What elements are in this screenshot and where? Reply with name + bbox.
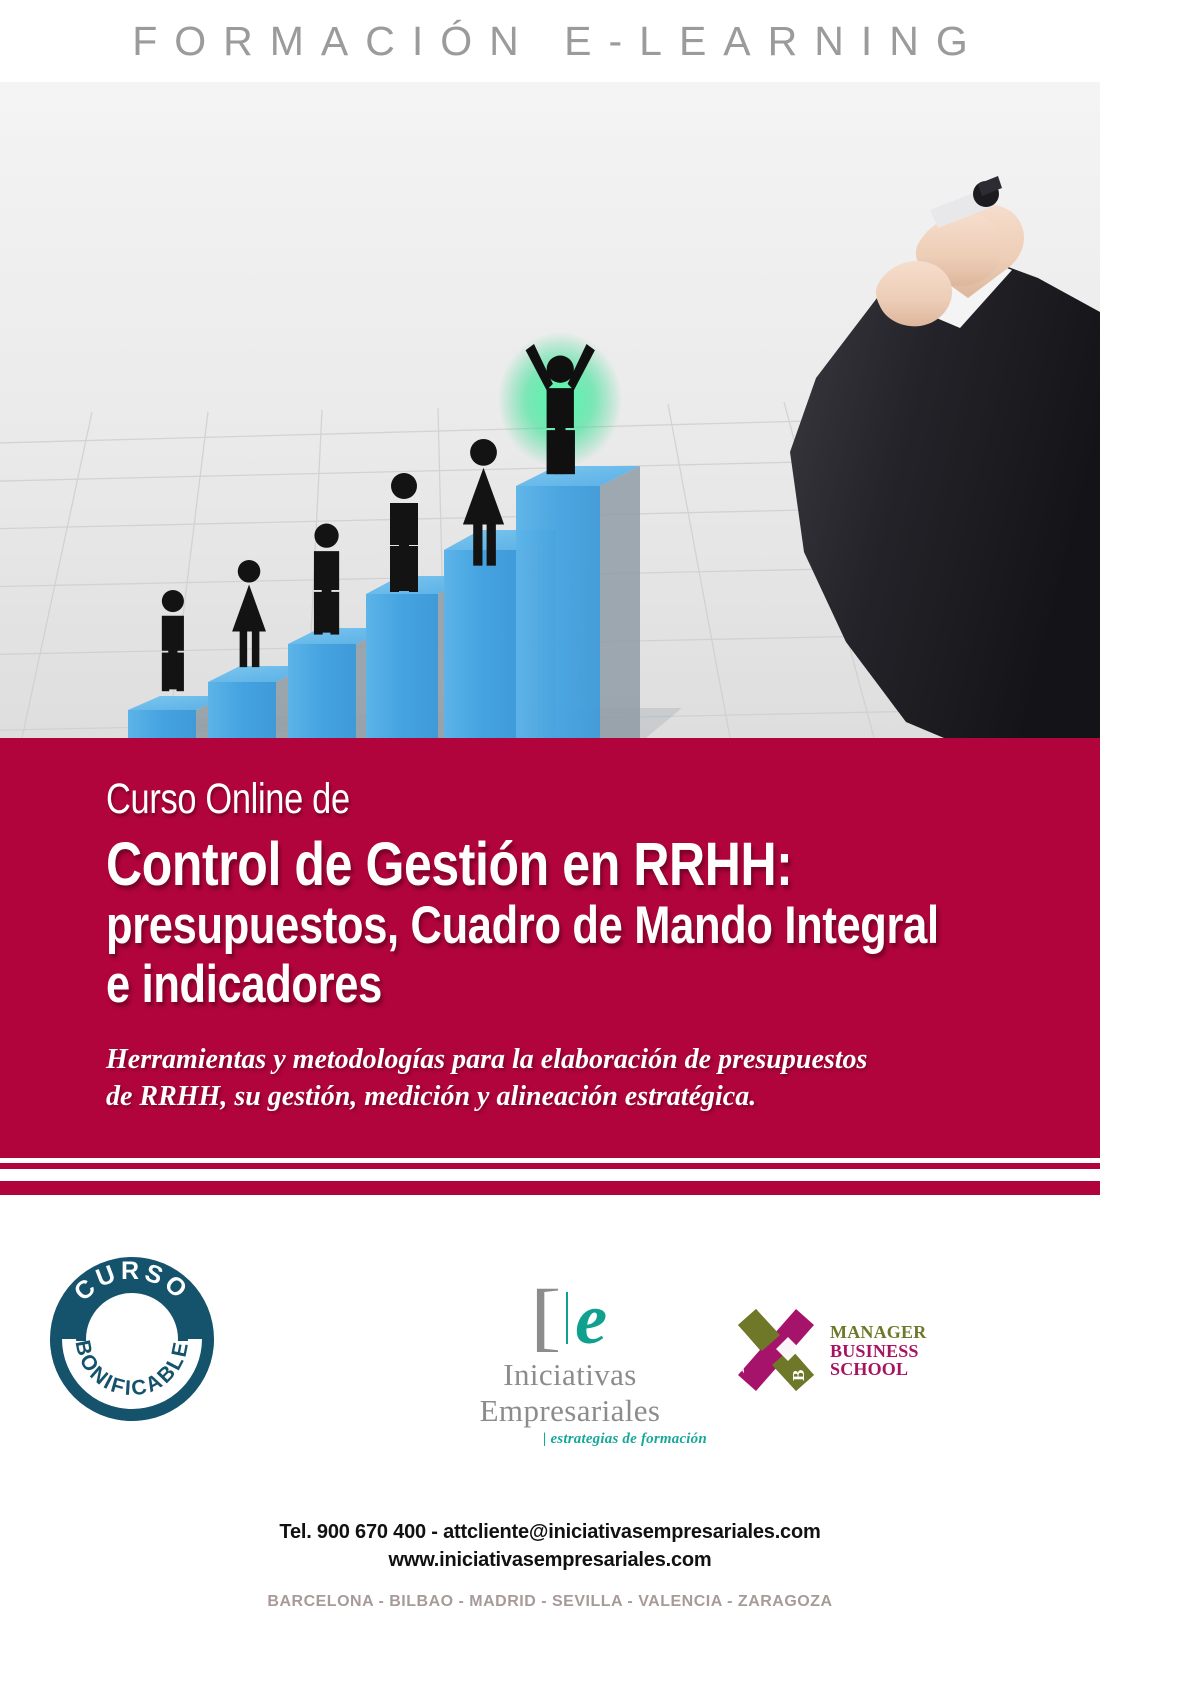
- course-title-line-1: Control de Gestión en RRHH:: [106, 831, 888, 897]
- bracket-icon: [: [530, 1288, 562, 1347]
- mbs-m-letter: M: [730, 1357, 748, 1373]
- manager-business-school-logo: M B MANAGER BUSINESS SCHOOL: [730, 1295, 940, 1407]
- iniciativas-empresariales-logo: [ e Iniciativas Empresariales | estrateg…: [425, 1285, 715, 1420]
- mbs-wordmark: MANAGER BUSINESS SCHOOL: [830, 1323, 926, 1379]
- ie-logomark: [ e: [425, 1285, 715, 1347]
- ie-company-name: Iniciativas Empresariales: [425, 1357, 715, 1429]
- logo-divider: [566, 1292, 568, 1344]
- ie-tagline: | estrategias de formación: [425, 1431, 715, 1448]
- mbs-b-letter: B: [789, 1370, 808, 1381]
- title-banner: Curso Online de Control de Gestión en RR…: [0, 738, 1100, 1158]
- curso-bonificable-badge: CURSO BONIFICABLE: [48, 1255, 216, 1423]
- header-title: FORMACIÓN E-LEARNING: [115, 18, 985, 65]
- bar-6: [516, 466, 640, 738]
- course-title-line-2: presupuestos, Cuadro de Mando Integral: [106, 897, 888, 955]
- mbs-line-2: BUSINESS: [830, 1342, 926, 1361]
- cities-list: BARCELONA - BILBAO - MADRID - SEVILLA - …: [0, 1593, 1100, 1611]
- hero-image: [0, 82, 1100, 738]
- course-brochure-page: FORMACIÓN E-LEARNING: [0, 0, 1100, 1697]
- contact-website: www.iniciativasempresariales.com: [0, 1546, 1100, 1574]
- mbs-line-3: SCHOOL: [830, 1360, 926, 1379]
- course-tagline-line-1: Herramientas y metodologías para la elab…: [106, 1042, 1060, 1079]
- e-letter-icon: e: [575, 1291, 607, 1347]
- mbs-line-1: MANAGER: [830, 1323, 926, 1342]
- contact-phone-email: Tel. 900 670 400 - attcliente@iniciativa…: [0, 1518, 1100, 1546]
- mbs-logomark: M B: [730, 1303, 822, 1399]
- divider-rule-thin: [0, 1163, 1100, 1169]
- course-tagline: Herramientas y metodologías para la elab…: [106, 1042, 1060, 1116]
- course-tagline-line-2: de RRHH, su gestión, medición y alineaci…: [106, 1079, 1060, 1116]
- growth-chart-illustration: [0, 82, 1100, 738]
- divider-rule-thick: [0, 1181, 1100, 1195]
- course-eyebrow: Curso Online de: [106, 778, 869, 821]
- contact-block: Tel. 900 670 400 - attcliente@iniciativa…: [0, 1518, 1100, 1575]
- page-header: FORMACIÓN E-LEARNING: [0, 0, 1100, 82]
- course-title-line-3: e indicadores: [106, 956, 888, 1014]
